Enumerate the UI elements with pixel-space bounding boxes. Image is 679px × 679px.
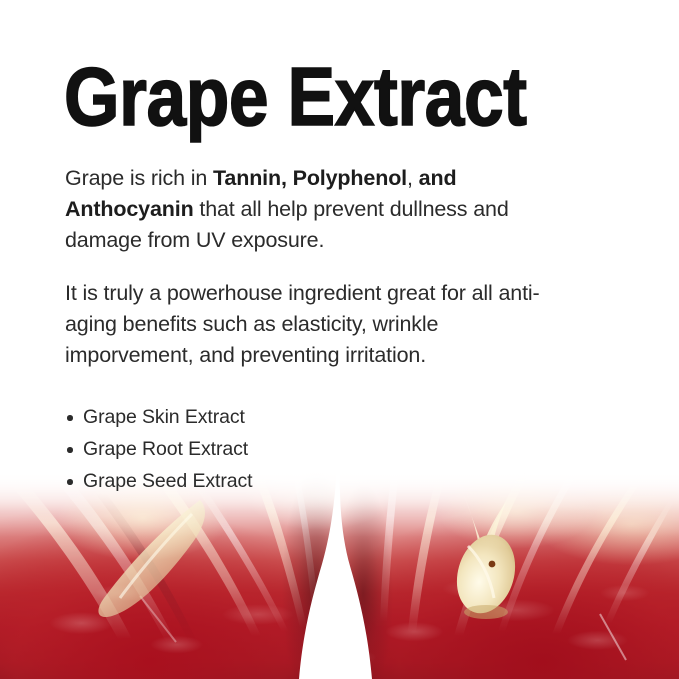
list-item: Grape Skin Extract xyxy=(66,404,486,431)
list-item: Grape Root Extract xyxy=(66,436,486,463)
extract-type-list: Grape Skin Extract Grape Root Extract Gr… xyxy=(66,404,486,500)
product-ingredient-card: Grape Extract Grape is rich in Tannin, P… xyxy=(0,0,679,679)
paragraph-intro: Grape is rich in Tannin, Polyphenol, and… xyxy=(65,163,565,256)
list-item: Grape Seed Extract xyxy=(66,468,486,495)
paragraph-benefits: It is truly a powerhouse ingredient grea… xyxy=(65,278,565,371)
description-block: Grape is rich in Tannin, Polyphenol, and… xyxy=(65,163,565,371)
page-title: Grape Extract xyxy=(64,58,527,137)
